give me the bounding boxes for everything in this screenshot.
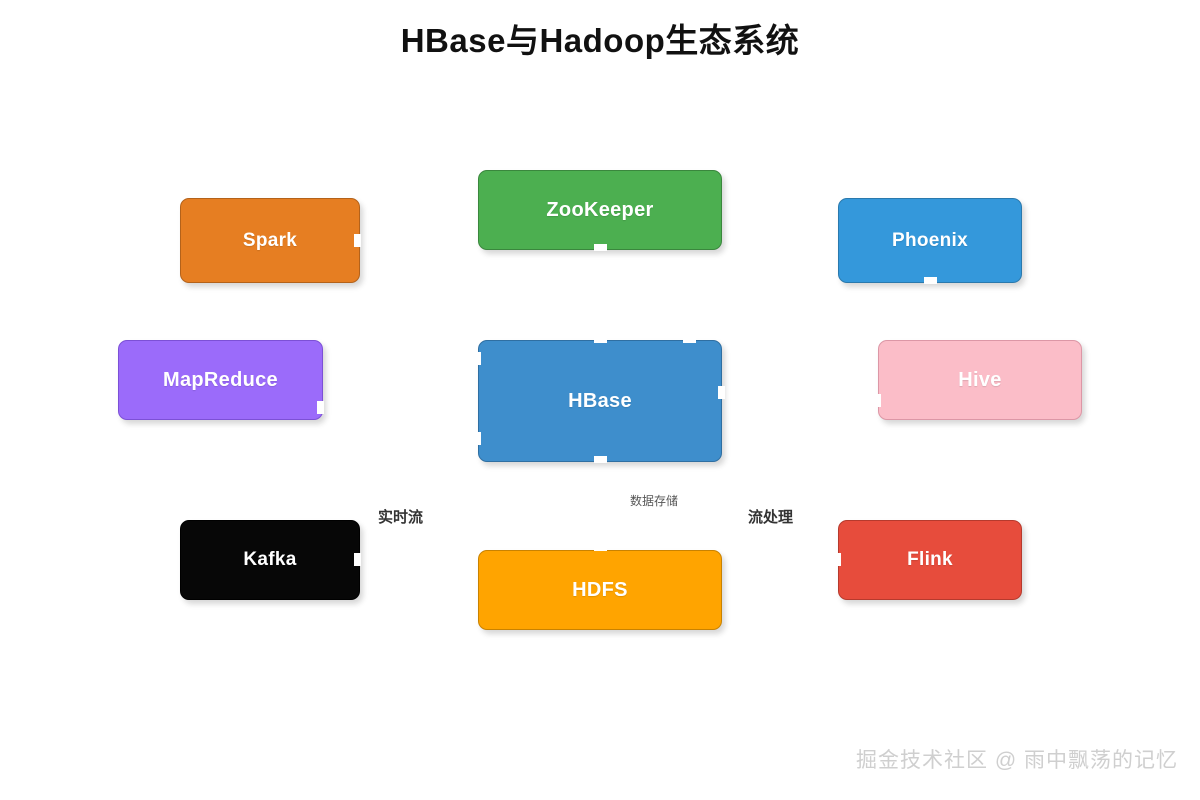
node-spark-label: Spark: [243, 230, 297, 252]
node-zookeeper-label: ZooKeeper: [546, 199, 653, 222]
node-hive[interactable]: Hive: [878, 340, 1082, 420]
node-phoenix[interactable]: Phoenix: [838, 198, 1022, 283]
connector-notch-hbase-top: [594, 336, 607, 343]
edge-label-realtime-stream: 实时流: [378, 506, 423, 527]
connector-notch-hbase-top-right: [683, 336, 696, 343]
node-spark[interactable]: Spark: [180, 198, 360, 283]
page-title: HBase与Hadoop生态系统: [0, 14, 1200, 62]
connector-notch-flink-left: [834, 553, 841, 566]
node-hbase[interactable]: HBase: [478, 340, 722, 462]
node-kafka[interactable]: Kafka: [180, 520, 360, 600]
node-mapreduce-label: MapReduce: [163, 369, 278, 392]
node-flink[interactable]: Flink: [838, 520, 1022, 600]
connector-notch-hdfs-top: [594, 544, 607, 551]
connector-notch-spark-right: [354, 234, 361, 247]
node-hive-label: Hive: [958, 369, 1001, 392]
connector-notch-kafka-right: [354, 553, 361, 566]
node-hdfs[interactable]: HDFS: [478, 550, 722, 630]
node-phoenix-label: Phoenix: [892, 230, 968, 252]
node-hdfs-label: HDFS: [572, 579, 628, 602]
node-zookeeper[interactable]: ZooKeeper: [478, 170, 722, 250]
connector-notch-hive-left: [874, 394, 881, 407]
connector-notch-hbase-bottom: [594, 456, 607, 463]
watermark: 掘金技术社区 @ 雨中飘荡的记忆: [856, 744, 1178, 774]
node-mapreduce[interactable]: MapReduce: [118, 340, 323, 420]
node-kafka-label: Kafka: [243, 549, 296, 571]
edge-label-data-storage: 数据存储: [630, 492, 678, 509]
connector-notch-mapreduce-right: [317, 401, 324, 414]
connector-notch-zookeeper-bottom: [594, 244, 607, 251]
node-flink-label: Flink: [907, 549, 953, 571]
connector-notch-hbase-right: [718, 386, 725, 399]
diagram-canvas: HBase与Hadoop生态系统 Spark ZooKeeper Phoenix…: [0, 0, 1200, 800]
edge-label-stream-processing: 流处理: [748, 506, 793, 527]
connector-notch-hbase-left-lower: [474, 432, 481, 445]
node-hbase-label: HBase: [568, 390, 632, 413]
connector-notch-hbase-left-upper: [474, 352, 481, 365]
connector-notch-phoenix-bottom: [924, 277, 937, 284]
